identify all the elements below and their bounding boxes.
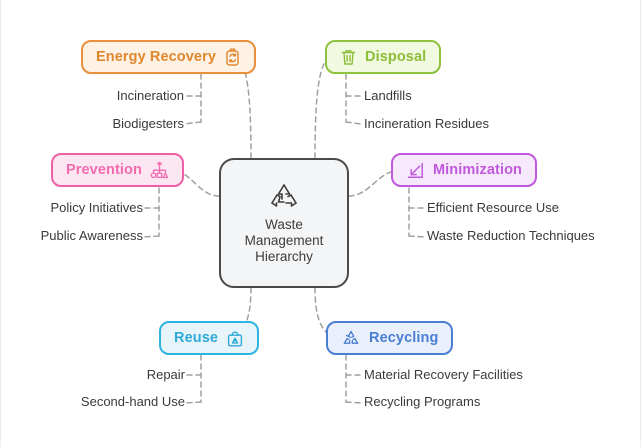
leaf-biodigesters: Biodigesters bbox=[112, 116, 184, 132]
shopping-bag-recycle-icon bbox=[226, 329, 244, 348]
center-node[interactable]: Waste Management Hierarchy bbox=[219, 158, 349, 288]
center-title: Waste Management Hierarchy bbox=[245, 217, 324, 265]
branch-label-energy-recovery: Energy Recovery bbox=[96, 49, 216, 65]
branch-label-minimization: Minimization bbox=[433, 162, 522, 178]
leaf-efficient-resource-use: Efficient Resource Use bbox=[427, 200, 559, 216]
leaf-incineration: Incineration bbox=[117, 88, 184, 104]
leaf-recycling-programs: Recycling Programs bbox=[364, 394, 480, 410]
leaf-public-awareness: Public Awareness bbox=[41, 228, 143, 244]
leaf-second-hand-use: Second-hand Use bbox=[81, 394, 185, 410]
branch-label-reuse: Reuse bbox=[174, 330, 218, 346]
branch-minimization[interactable]: Minimization bbox=[391, 153, 537, 187]
leaf-waste-reduction-techniques: Waste Reduction Techniques bbox=[427, 228, 595, 244]
branch-recycling[interactable]: Recycling bbox=[326, 321, 453, 355]
edge-recycling-leaf-2 bbox=[346, 402, 361, 403]
branch-energy-recovery[interactable]: Energy Recovery bbox=[81, 40, 256, 74]
edge-center-energy-recovery bbox=[241, 62, 251, 158]
edge-center-disposal bbox=[315, 62, 325, 158]
branch-disposal[interactable]: Disposal bbox=[325, 40, 441, 74]
edge-center-prevention bbox=[179, 172, 219, 196]
leaf-repair: Repair bbox=[147, 367, 185, 383]
leaf-policy-initiatives: Policy Initiatives bbox=[51, 200, 143, 216]
branch-prevention[interactable]: Prevention bbox=[51, 153, 184, 187]
leaf-incineration-residues: Incineration Residues bbox=[364, 116, 489, 132]
branch-label-disposal: Disposal bbox=[365, 49, 426, 65]
battery-recycle-icon bbox=[224, 48, 241, 67]
recycle-arrows-icon bbox=[341, 329, 361, 348]
leaf-material-recovery-facilities: Material Recovery Facilities bbox=[364, 367, 523, 383]
branch-reuse[interactable]: Reuse bbox=[159, 321, 259, 355]
edge-minimization-leaf-2 bbox=[409, 236, 424, 237]
branch-label-recycling: Recycling bbox=[369, 330, 438, 346]
shrink-arrow-icon bbox=[406, 161, 425, 180]
edge-prevention-leaf-2 bbox=[143, 236, 159, 237]
trash-can-icon bbox=[340, 48, 357, 67]
leaf-landfills: Landfills bbox=[364, 88, 412, 104]
edge-energy-recovery-leaf-2 bbox=[184, 122, 201, 124]
sitemap-icon bbox=[150, 161, 169, 180]
edge-disposal-leaf-2 bbox=[346, 122, 361, 124]
edge-center-minimization bbox=[349, 172, 391, 196]
edge-reuse-leaf-2 bbox=[185, 402, 201, 403]
branch-label-prevention: Prevention bbox=[66, 162, 142, 178]
mind-map-canvas: Waste Management Hierarchy Energy Recove… bbox=[0, 0, 641, 447]
recycle-icon bbox=[264, 181, 304, 211]
